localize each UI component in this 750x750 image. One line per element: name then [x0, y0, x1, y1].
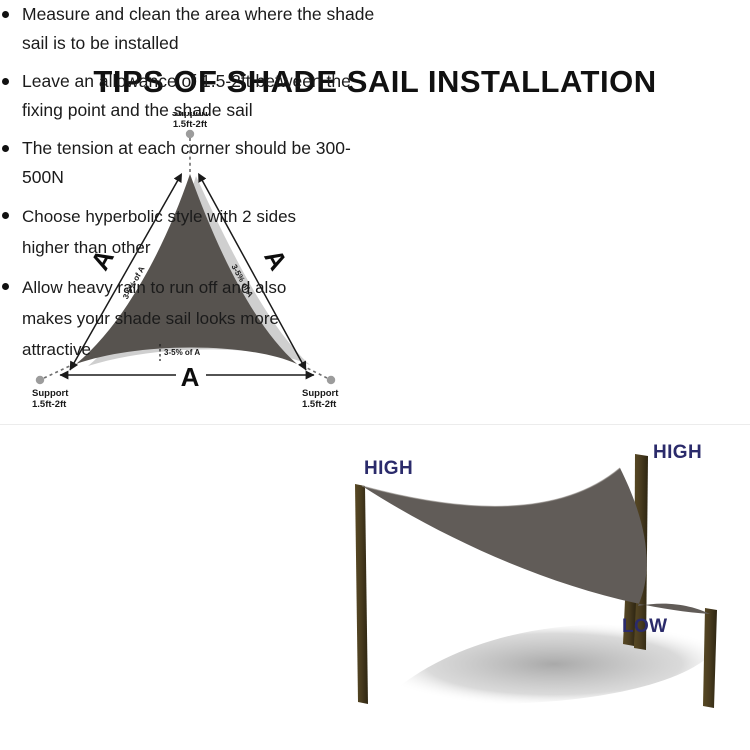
sail-fabric	[362, 468, 710, 614]
corner-label-front-low: LOW	[622, 616, 668, 637]
post-front-right	[703, 608, 717, 708]
infographic-page: TIPS OF SHADE SAIL INSTALLATION Support …	[0, 0, 750, 750]
support-bottom-left-label-line1: Support	[32, 388, 69, 399]
side-length-label-bottom: A	[181, 362, 200, 392]
corner-label-left-high: HIGH	[364, 458, 413, 479]
sail-illustration-svg: HIGH HIGH LOW	[348, 428, 748, 724]
top-bullet-list: Measure and clean the area where the sha…	[0, 0, 392, 192]
ground-shadow	[388, 625, 720, 704]
list-item: The tension at each corner should be 300…	[0, 134, 392, 192]
section-divider	[0, 424, 750, 425]
support-dot-bottom-right	[327, 376, 335, 384]
bottom-bullet-list: Choose hyperbolic style with 2 sides hig…	[0, 201, 310, 365]
sail-illustration-panel: HIGH HIGH LOW	[348, 428, 748, 724]
post-back-left	[355, 484, 368, 704]
support-bottom-left-label-line2: 1.5ft-2ft	[32, 399, 67, 410]
support-bottom-right-label-line1: Support	[302, 388, 339, 399]
support-dashed-line-bottom-left	[44, 364, 74, 378]
list-item: Allow heavy rain to run off and also mak…	[0, 272, 310, 365]
corner-label-right-high: HIGH	[653, 442, 702, 463]
list-item: Measure and clean the area where the sha…	[0, 0, 392, 58]
support-dot-bottom-left	[36, 376, 44, 384]
list-item: Leave an allowance of 1.5-2ft between th…	[0, 67, 392, 125]
list-item: Choose hyperbolic style with 2 sides hig…	[0, 201, 310, 263]
support-bottom-right-label-line2: 1.5ft-2ft	[302, 399, 337, 410]
